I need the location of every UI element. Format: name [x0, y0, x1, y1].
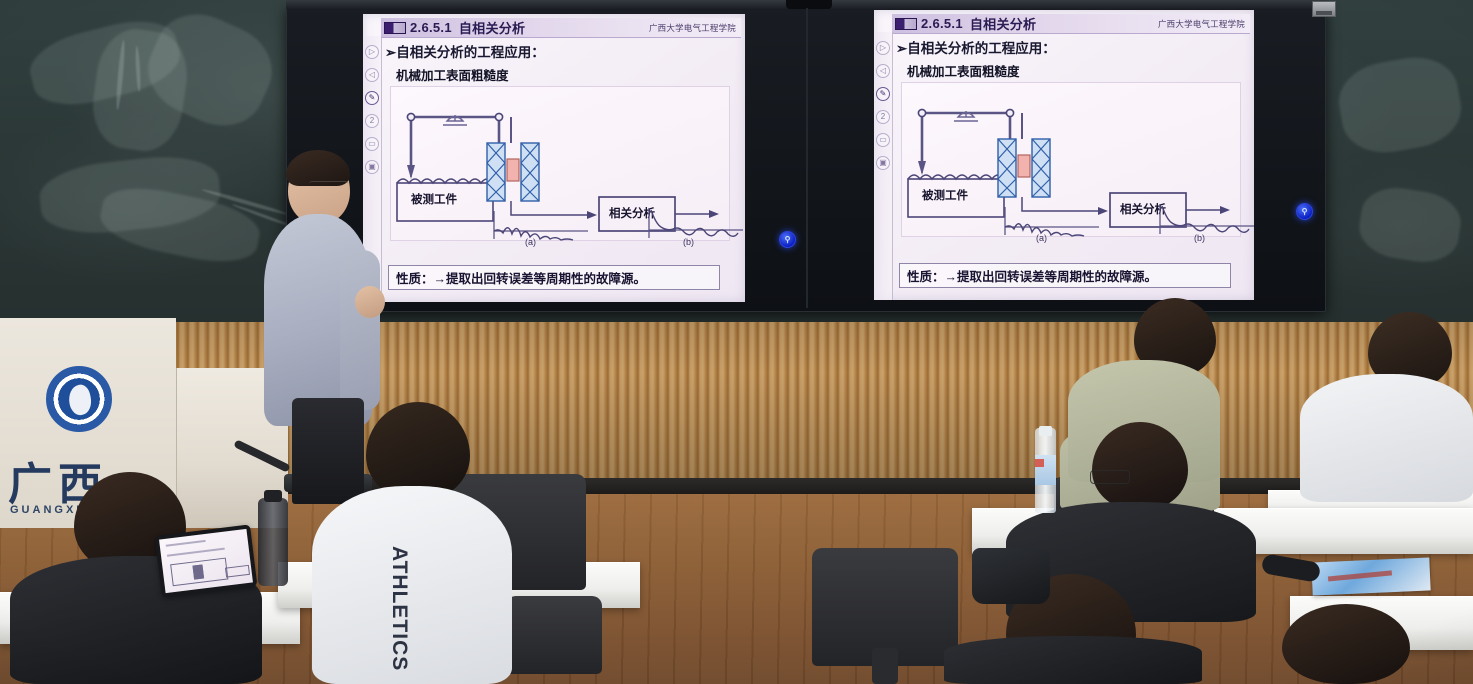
slide-header: 2.6.5.1 自相关分析 广西大学电气工程学院	[892, 14, 1250, 34]
workpiece-label: 被测工件	[411, 191, 457, 207]
slide-section-title: 自相关分析	[459, 18, 526, 37]
annotation-toolbar[interactable]: ▷ ◁ ✎ 2 ▭ ▣	[874, 32, 893, 300]
presenter-arm	[340, 250, 380, 410]
slide-subtitle: 机械加工表面粗糙度	[907, 61, 1020, 80]
slide-header: 2.6.5.1 自相关分析 广西大学电气工程学院	[381, 18, 741, 38]
slide-note-text: 性质：→提取出回转误差等周期性的故障源。	[907, 266, 1157, 285]
pointer-icon[interactable]: ▷	[365, 45, 379, 59]
ink-color-icon[interactable]: ▭	[876, 133, 890, 147]
slide-subtitle: 机械加工表面粗糙度	[396, 65, 509, 84]
slide-section-number: 2.6.5.1	[410, 20, 452, 35]
slide-note-box: 性质：→提取出回转误差等周期性的故障源。	[899, 263, 1231, 288]
backpack	[972, 548, 1050, 604]
shirt-text: ATHLETICS	[391, 546, 411, 676]
laser-icon[interactable]: ◁	[876, 64, 890, 78]
plot-a-label: (a)	[1036, 233, 1047, 243]
student-tablet[interactable]	[155, 524, 258, 597]
student-glasses-icon	[1090, 470, 1130, 484]
slide-organization: 广西大学电气工程学院	[649, 22, 736, 34]
slide-grid-icon[interactable]: ▣	[365, 160, 379, 174]
water-bottle-label	[1035, 455, 1056, 485]
bottle-front-left-cap	[264, 490, 282, 502]
lecture-hall-scene: 2.6.5.1 自相关分析 广西大学电气工程学院 ▷ ◁ ✎ 2 ▭ ▣ ➢自相…	[0, 0, 1473, 684]
ink-color-icon[interactable]: ▭	[365, 137, 379, 151]
tablet-screen[interactable]	[159, 529, 253, 593]
workpiece-label: 被测工件	[922, 187, 968, 203]
textbook	[1311, 557, 1430, 595]
slide-grid-icon[interactable]: ▣	[876, 156, 890, 170]
display-seam	[806, 8, 808, 308]
chair-center-post	[872, 648, 898, 684]
ceiling-camera	[786, 0, 832, 9]
presenter-badge-right[interactable]: ⚲	[1296, 203, 1313, 220]
slide-note-box: 性质：→提取出回转误差等周期性的故障源。	[388, 265, 720, 290]
pointer-icon[interactable]: ▷	[876, 41, 890, 55]
pen-icon[interactable]: ✎	[876, 87, 890, 101]
display-right-slide[interactable]: 2.6.5.1 自相关分析 广西大学电气工程学院 ▷ ◁ ✎ 2 ▭ ▣ ➢自相…	[874, 10, 1254, 300]
slide-bullet: ➢自相关分析的工程应用：	[896, 37, 1056, 57]
waveform-plot-a	[999, 205, 1104, 239]
waveform-plot-b	[643, 206, 745, 243]
slide-section-title: 自相关分析	[970, 14, 1037, 33]
presenter-hand	[355, 286, 385, 318]
eraser-icon[interactable]: 2	[876, 110, 890, 124]
wall-mounted-device	[1312, 1, 1336, 17]
university-emblem-icon	[46, 366, 112, 432]
ppt-logo-icon	[384, 22, 406, 34]
presenter-trousers	[292, 398, 364, 504]
bottle-front-left	[258, 498, 288, 586]
slide-organization: 广西大学电气工程学院	[1158, 18, 1245, 30]
chair-mid-left-2	[506, 596, 602, 674]
pen-icon[interactable]: ✎	[365, 91, 379, 105]
slide-note-text: 性质：→提取出回转误差等周期性的故障源。	[396, 268, 646, 287]
ppt-logo-icon	[895, 18, 917, 30]
plot-b-label: (b)	[1194, 233, 1205, 243]
presenter-badge-left[interactable]: ⚲	[779, 231, 796, 248]
water-bottle-cap	[1039, 426, 1052, 436]
waveform-plot-a	[488, 209, 593, 243]
plot-a-label: (a)	[525, 237, 536, 247]
slide-bullet: ➢自相关分析的工程应用：	[385, 41, 545, 61]
display-left-slide[interactable]: 2.6.5.1 自相关分析 广西大学电气工程学院 ▷ ◁ ✎ 2 ▭ ▣ ➢自相…	[363, 14, 745, 302]
presenter-glasses-icon	[309, 181, 348, 190]
plot-b-label: (b)	[683, 237, 694, 247]
eraser-icon[interactable]: 2	[365, 114, 379, 128]
slide-section-number: 2.6.5.1	[921, 16, 963, 31]
laser-icon[interactable]: ◁	[365, 68, 379, 82]
